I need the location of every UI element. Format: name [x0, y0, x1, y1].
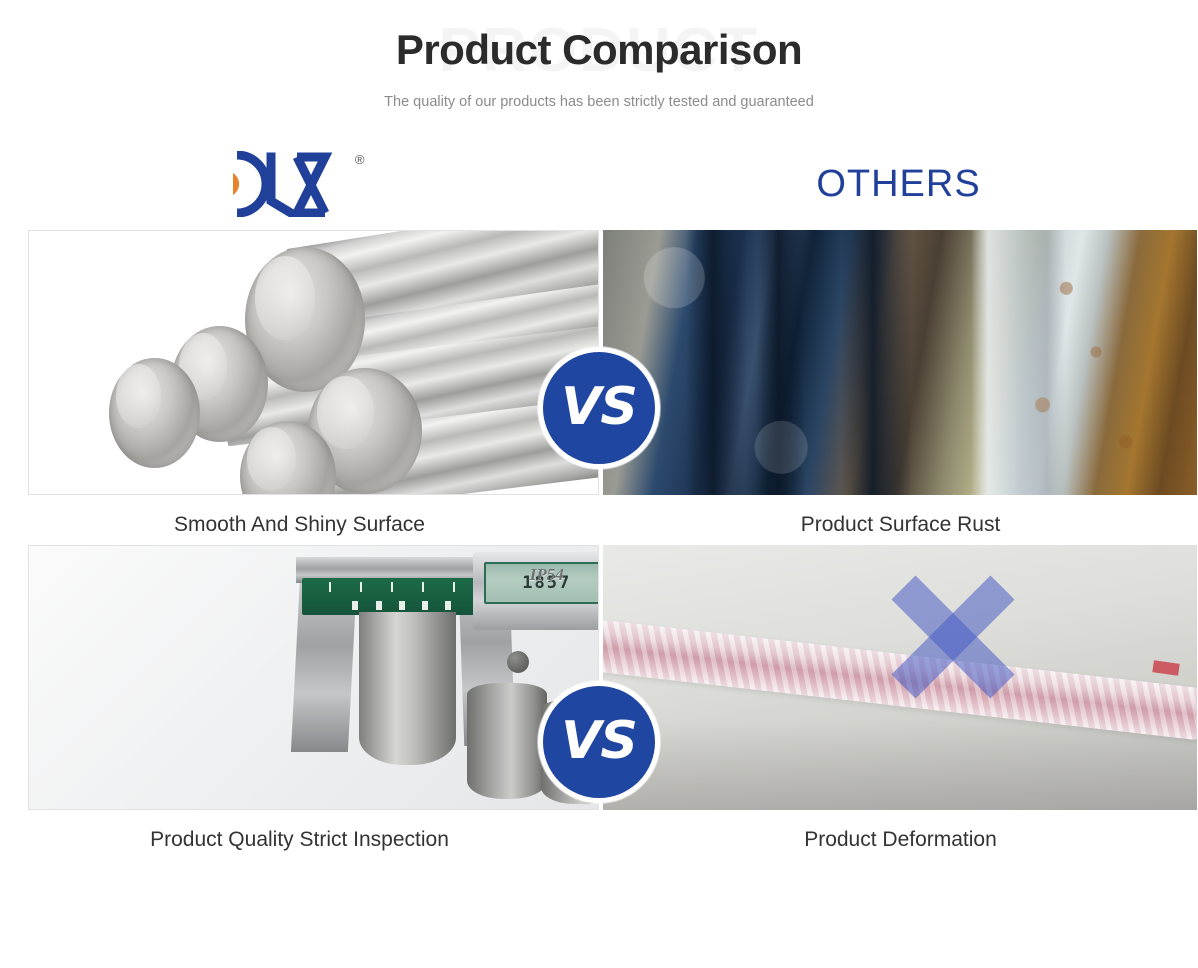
deformed-wrapped-rod-photo	[603, 545, 1197, 810]
vs-badge: VS	[538, 347, 660, 469]
caption-ours-row1: Smooth And Shiny Surface	[28, 495, 599, 543]
caption-ours-row2: Product Quality Strict Inspection	[28, 810, 599, 858]
caption-others-row2: Product Deformation	[603, 810, 1198, 858]
caption-others-row1: Product Surface Rust	[603, 495, 1198, 543]
comparison-cell-ours: Smooth And Shiny Surface	[0, 230, 599, 543]
comparison-cell-others: Product Surface Rust	[599, 230, 1198, 543]
page-subtitle: The quality of our products has been str…	[0, 94, 1198, 110]
dlx-logo: ®	[231, 151, 351, 217]
comparison-cell-ours: 1857 IP54 Product Quality Strict Inspect…	[0, 545, 599, 858]
brand-cell-ours: ®	[0, 138, 599, 230]
stainless-steel-round-bars-photo	[28, 230, 599, 495]
brand-row: ® OTHERS	[0, 138, 1198, 230]
digital-caliper-measuring-rod-photo: 1857 IP54	[28, 545, 599, 810]
others-label: OTHERS	[816, 163, 980, 206]
brand-cell-others: OTHERS	[599, 138, 1198, 230]
comparison-cell-others: Product Deformation	[599, 545, 1198, 858]
rusty-pipes-photo	[603, 230, 1197, 495]
registered-trademark-icon: ®	[355, 153, 365, 166]
page-header: PRODUCT Product Comparison The quality o…	[0, 0, 1198, 110]
product-comparison-page: PRODUCT Product Comparison The quality o…	[0, 0, 1198, 968]
vs-badge: VS	[538, 681, 660, 803]
vs-badge-label: VS	[561, 381, 637, 433]
caliper-ip-rating: IP54	[530, 565, 564, 585]
page-title: Product Comparison	[0, 26, 1198, 74]
vs-badge-label: VS	[561, 715, 637, 767]
dlx-logo-icon	[231, 151, 351, 217]
